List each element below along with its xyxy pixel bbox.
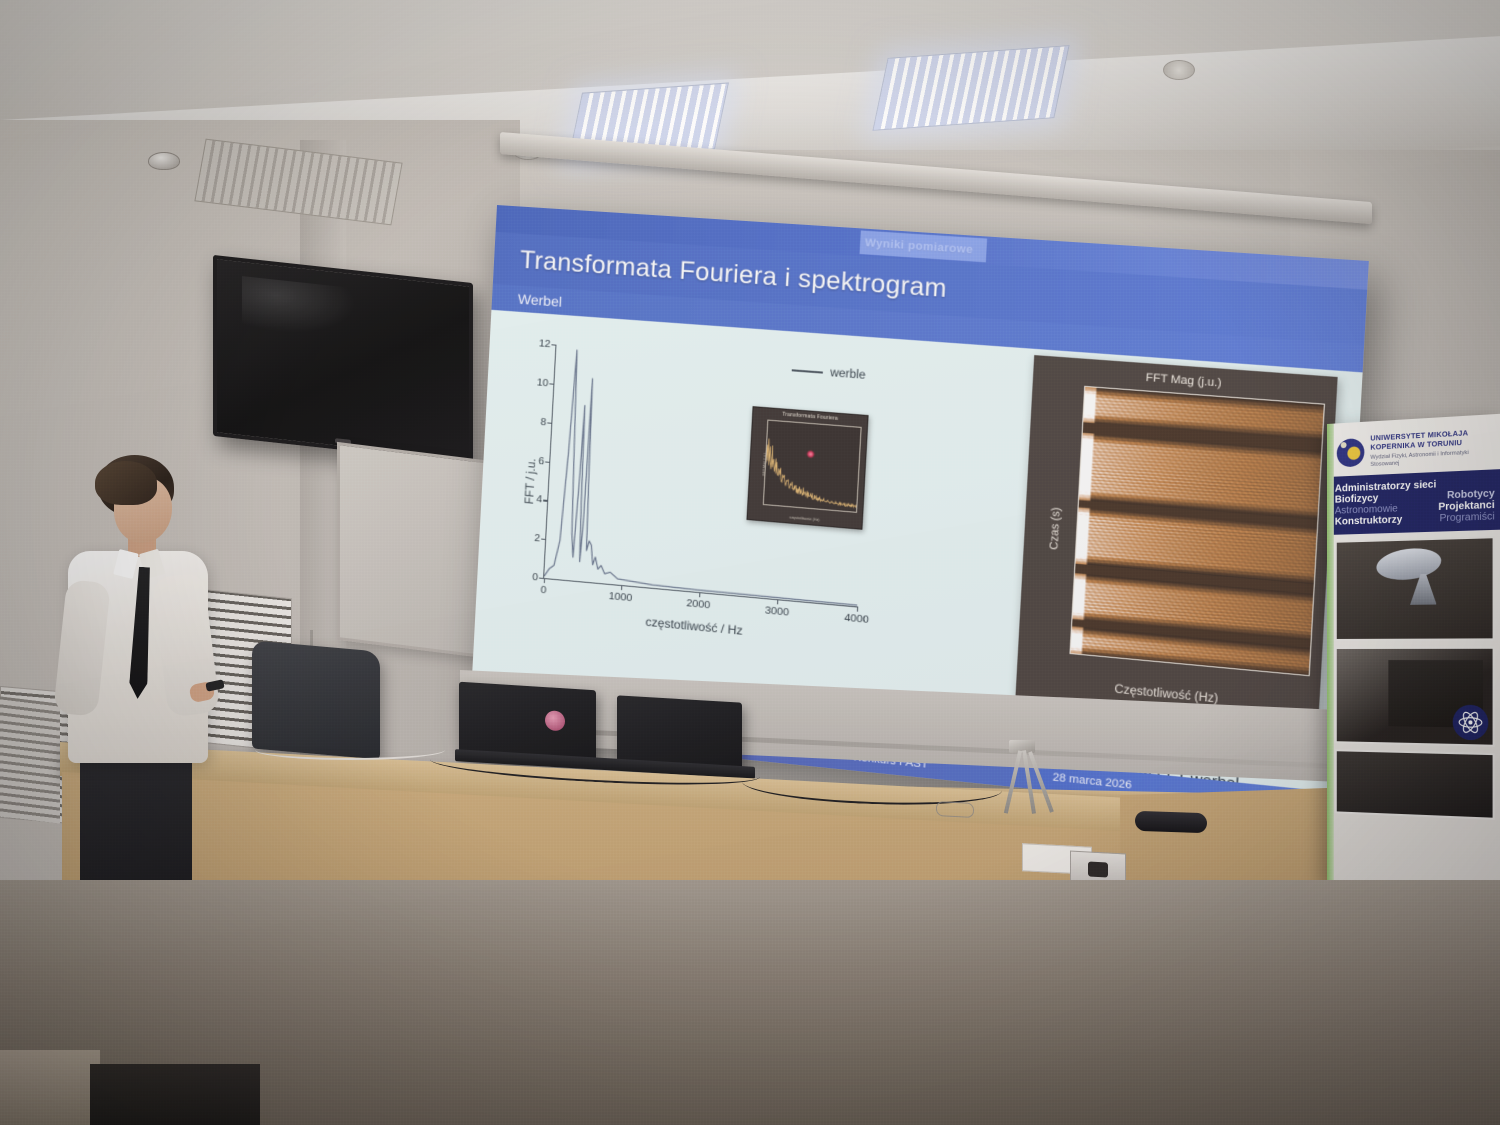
spectrogram-canvas — [1071, 387, 1324, 675]
banner-photo-lab — [1335, 647, 1495, 747]
banner-roles-strip: Administratorzy sieci Biofizycy Robotycy… — [1327, 469, 1500, 535]
fft-x-tick-mark — [777, 599, 778, 604]
banner-role: Konstruktorzy — [1335, 515, 1402, 528]
figure-spectrogram: FFT Mag (j.u.) Czas (s) 2000400060246 Cz… — [1015, 355, 1337, 726]
slide-subtitle: Werbel — [518, 291, 563, 310]
ceiling-light-panel — [872, 45, 1069, 131]
banner-photo-telescope — [1335, 536, 1495, 641]
tripod-leg — [1004, 750, 1022, 813]
spectrogram-x-tick: 60 — [1301, 674, 1315, 676]
spectrogram-y-tick: 4 — [1069, 540, 1076, 552]
lecture-hall-photo: Wyniki pomiarowe Transformata Fouriera i… — [0, 0, 1500, 1125]
banner-header: UNIWERSYTET MIKOŁAJA KOPERNIKA W TORUNIU… — [1327, 414, 1500, 478]
banner-role: Programiści — [1439, 511, 1494, 524]
inset-spectrum — [764, 421, 861, 512]
fft-x-tick-mark — [544, 578, 545, 583]
footer-date: 28 marca 2026 — [1052, 771, 1132, 792]
banner-photo-bottom — [1335, 749, 1495, 820]
fft-x-tick-mark — [621, 585, 622, 590]
wall-mounted-tv — [213, 255, 473, 464]
rollup-banner: UNIWERSYTET MIKOŁAJA KOPERNIKA W TORUNIU… — [1327, 414, 1500, 895]
spectrogram-x-tick: 2000 — [1135, 659, 1161, 676]
atom-icon — [1453, 705, 1489, 741]
eyeglasses — [936, 801, 974, 818]
legend-swatch — [792, 369, 823, 373]
inset-photograph: Transformata Fouriera FFT Mag (j.u.) czę… — [746, 406, 868, 530]
legend-label: werble — [830, 367, 866, 382]
tv-glare — [242, 276, 355, 340]
laptop-sticker — [545, 710, 565, 731]
spectrogram-image: 2000400060246 — [1069, 386, 1325, 676]
microphone-case — [1135, 811, 1207, 834]
spectrogram-x-tick: 4000 — [1214, 666, 1241, 676]
step-dark — [90, 1064, 260, 1125]
figure-fft: FFT / j.u. werble Transformata Fouriera — [496, 329, 881, 663]
atom-glyph — [1457, 709, 1484, 736]
fft-x-axis-label: częstotliwość / Hz — [645, 615, 743, 638]
presenter-hair-front — [95, 461, 157, 505]
socket-opening — [1088, 861, 1108, 877]
downlight-icon — [1163, 60, 1195, 80]
fft-plot-area: werble Transformata Fouriera FFT — [543, 345, 870, 608]
step — [0, 1050, 100, 1125]
umk-logo-icon — [1337, 438, 1365, 468]
spectrogram-y-tick: 6 — [1070, 434, 1083, 446]
spectrogram-y-label: Czas (s) — [1048, 507, 1063, 551]
camera-tripod — [995, 744, 1059, 814]
banner-edge — [1327, 424, 1334, 885]
radio-telescope-dish — [1375, 545, 1443, 584]
cable — [255, 740, 445, 760]
dome-camera-icon — [148, 152, 180, 170]
inset-plot-frame — [763, 420, 862, 513]
